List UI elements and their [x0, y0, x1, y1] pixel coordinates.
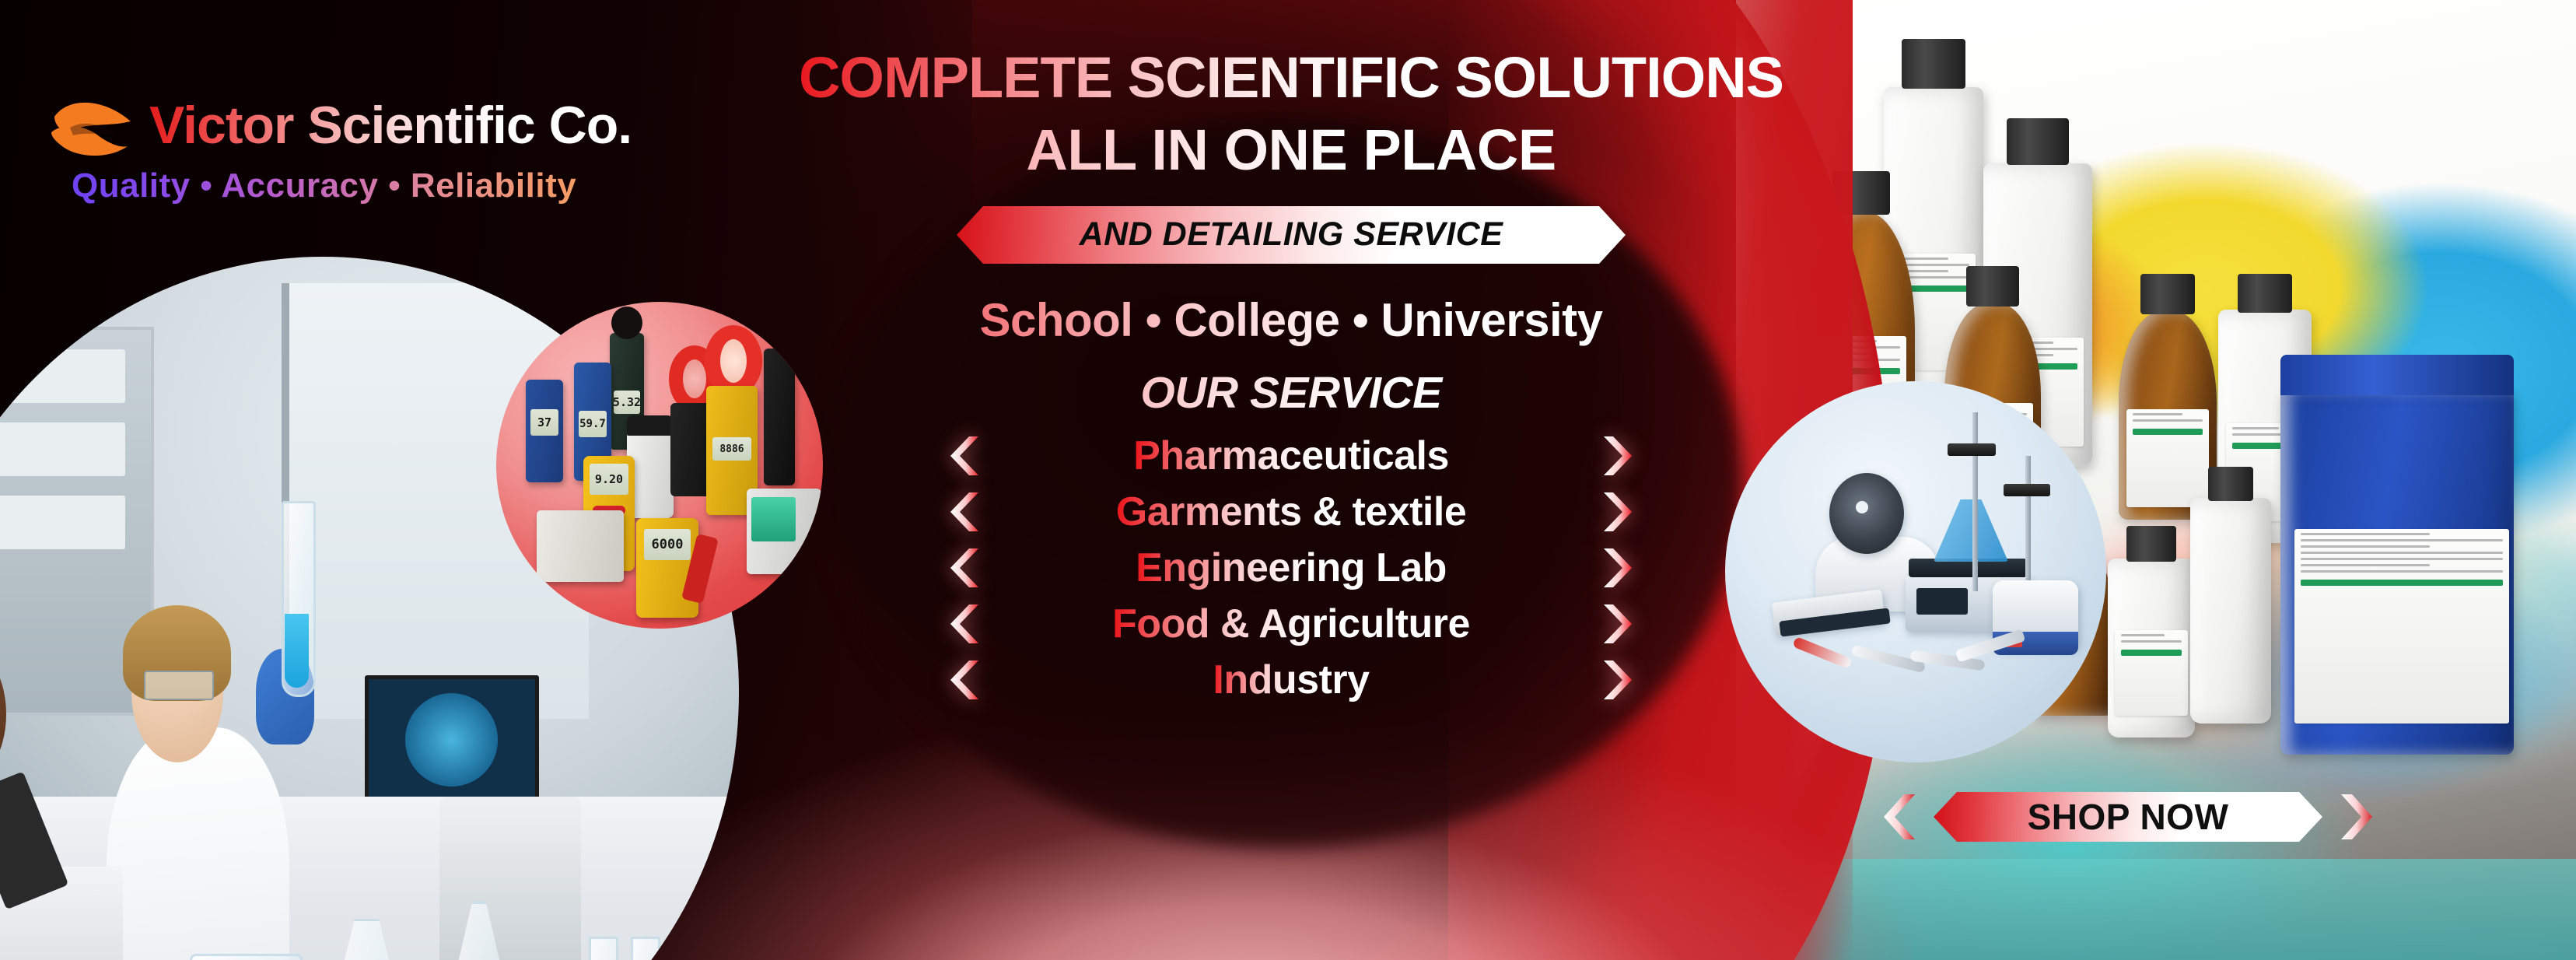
chevron-left-icon [946, 435, 988, 477]
audience-line: School • College • University [793, 293, 1789, 347]
our-service-heading: OUR SERVICE [793, 367, 1789, 419]
chemical-jar [2280, 389, 2514, 755]
brand-name: Victor Scientific Co. [149, 99, 632, 152]
chevron-right-icon [1594, 547, 1636, 589]
shop-now-label: SHOP NOW [2028, 796, 2229, 838]
shop-now-group[interactable]: SHOP NOW [1881, 792, 2375, 842]
promo-banner: 5.32 37 59.7 9.20 6000 88 [0, 0, 2576, 960]
service-row[interactable]: Garments & textile [793, 484, 1789, 540]
instruments-photo-ring [482, 288, 837, 643]
chevron-right-icon [1594, 435, 1636, 477]
service-label: Pharmaceuticals [1133, 433, 1449, 479]
service-label: Garments & textile [1116, 489, 1467, 535]
center-content: COMPLETE SCIENTIFIC SOLUTIONS ALL IN ONE… [793, 0, 1789, 960]
chevron-right-icon [1594, 491, 1636, 533]
service-row[interactable]: Engineering Lab [793, 540, 1789, 596]
brand-logo[interactable]: Victor Scientific Co. Quality • Accuracy… [50, 93, 632, 205]
service-row[interactable]: Industry [793, 652, 1789, 708]
service-label: Engineering Lab [1136, 545, 1447, 591]
headline-line-1: COMPLETE SCIENTIFIC SOLUTIONS [793, 48, 1789, 107]
brand-tagline: Quality • Accuracy • Reliability [72, 166, 632, 205]
chevron-left-icon [946, 547, 988, 589]
chevron-left-icon [1881, 793, 1923, 841]
chemical-bottle [2119, 311, 2217, 520]
ribbon-label: AND DETAILING SERVICE [1080, 215, 1503, 254]
chevron-right-icon [1594, 659, 1636, 701]
service-list: Pharmaceuticals Garments & textile [793, 428, 1789, 708]
service-label: Food & Agriculture [1112, 601, 1470, 647]
chemical-bottle [2190, 498, 2271, 724]
shop-now-button[interactable]: SHOP NOW [1934, 792, 2322, 842]
service-label: Industry [1213, 657, 1369, 703]
service-row[interactable]: Pharmaceuticals [793, 428, 1789, 484]
chevron-left-icon [946, 659, 988, 701]
leaf-flame-icon [50, 93, 134, 157]
service-row[interactable]: Food & Agriculture [793, 596, 1789, 652]
chevron-left-icon [946, 491, 988, 533]
chevron-left-icon [946, 603, 988, 645]
chevron-right-icon [1594, 603, 1636, 645]
headline-line-2: ALL IN ONE PLACE [793, 121, 1789, 179]
detailing-service-ribbon: AND DETAILING SERVICE [957, 206, 1626, 264]
chevron-right-icon [2333, 793, 2375, 841]
